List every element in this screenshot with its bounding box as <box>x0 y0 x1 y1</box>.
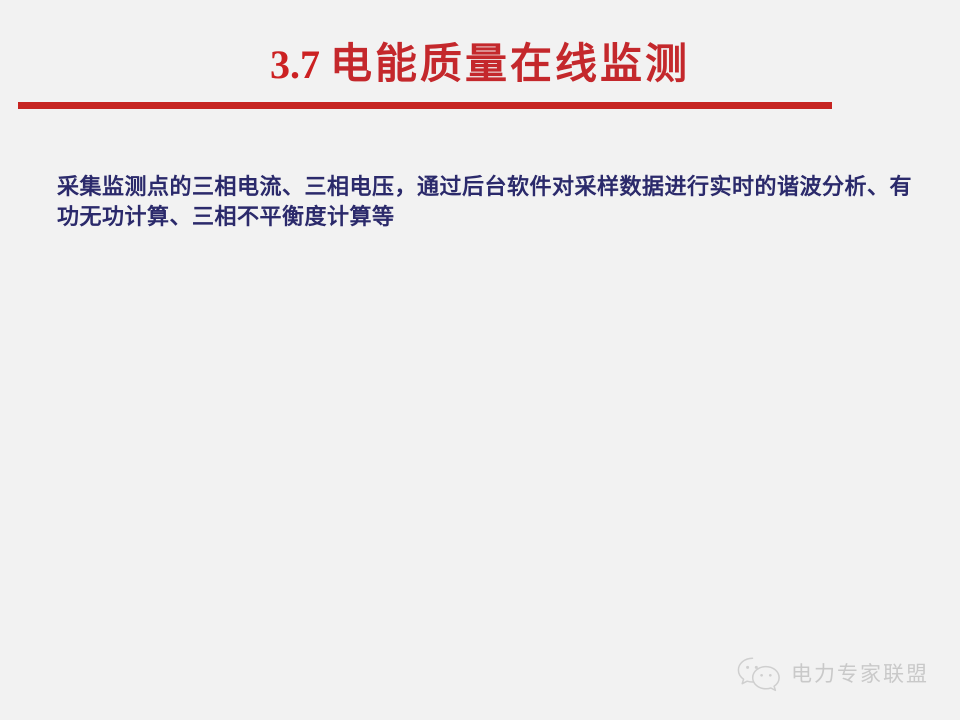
page-title: 3.7电能质量在线监测 <box>0 44 960 86</box>
watermark-label: 电力专家联盟 <box>791 664 929 685</box>
watermark: 电力专家联盟 <box>736 655 929 693</box>
title-section-number: 3.7 <box>270 42 320 87</box>
title-divider-rule <box>18 102 832 109</box>
body-paragraph: 采集监测点的三相电流、三相电压，通过后台软件对采样数据进行实时的谐波分析、有功无… <box>57 172 917 232</box>
wechat-icon <box>736 655 782 693</box>
title-heading-text: 电能质量在线监测 <box>330 42 690 88</box>
slide-canvas: 3.7电能质量在线监测 采集监测点的三相电流、三相电压，通过后台软件对采样数据进… <box>0 0 960 720</box>
